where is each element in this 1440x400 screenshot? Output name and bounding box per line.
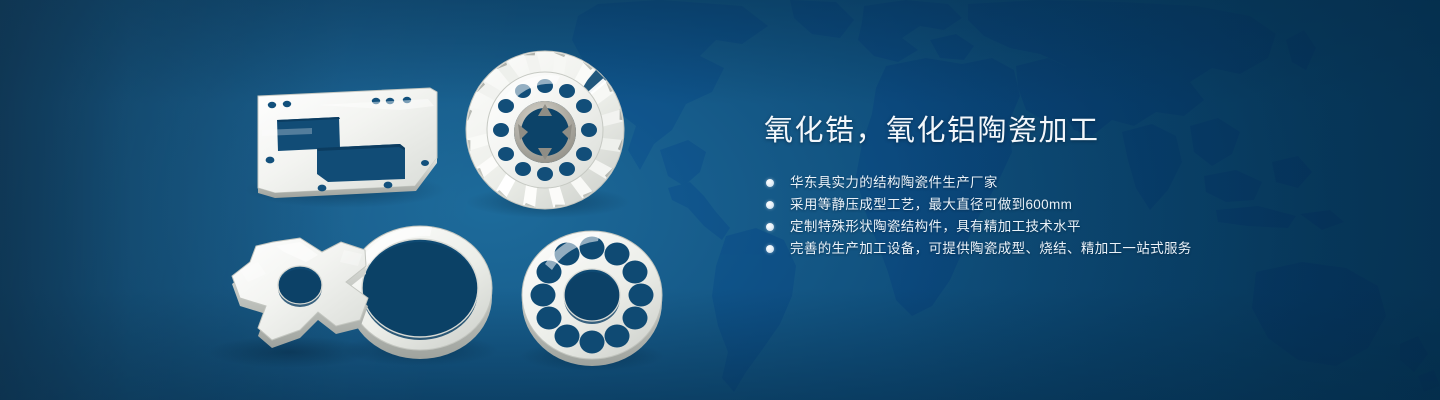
hero-copy: 氧化锆，氧化铝陶瓷加工 华东具实力的结构陶瓷件生产厂家 采用等静压成型工艺，最大…	[764, 112, 1324, 260]
ceramic-cross-plate	[208, 238, 372, 368]
ceramic-base-plate	[245, 88, 445, 208]
list-item: 定制特殊形状陶瓷结构件，具有精加工技术水平	[764, 216, 1324, 238]
list-item: 华东具实力的结构陶瓷件生产厂家	[764, 172, 1324, 194]
list-item-label: 华东具实力的结构陶瓷件生产厂家	[790, 175, 998, 190]
hero-banner: 氧化锆，氧化铝陶瓷加工 华东具实力的结构陶瓷件生产厂家 采用等静压成型工艺，最大…	[0, 0, 1440, 400]
bullet-dot-icon	[766, 201, 774, 209]
page-title: 氧化锆，氧化铝陶瓷加工	[764, 112, 1324, 150]
list-item: 完善的生产加工设备，可提供陶瓷成型、烧结、精加工一站式服务	[764, 238, 1324, 260]
list-item: 采用等静压成型工艺，最大直径可做到600mm	[764, 194, 1324, 216]
bullet-dot-icon	[766, 223, 774, 231]
ceramic-impeller-rotor	[457, 42, 632, 218]
bullet-dot-icon	[766, 179, 774, 187]
bullet-dot-icon	[766, 245, 774, 253]
product-photo-cluster	[0, 0, 700, 400]
list-item-label: 定制特殊形状陶瓷结构件，具有精加工技术水平	[790, 219, 1081, 234]
list-item-label: 采用等静压成型工艺，最大直径可做到600mm	[790, 197, 1072, 212]
ceramic-perforated-disc	[520, 231, 664, 371]
list-item-label: 完善的生产加工设备，可提供陶瓷成型、烧结、精加工一站式服务	[790, 241, 1192, 256]
feature-list: 华东具实力的结构陶瓷件生产厂家 采用等静压成型工艺，最大直径可做到600mm 定…	[764, 172, 1324, 260]
